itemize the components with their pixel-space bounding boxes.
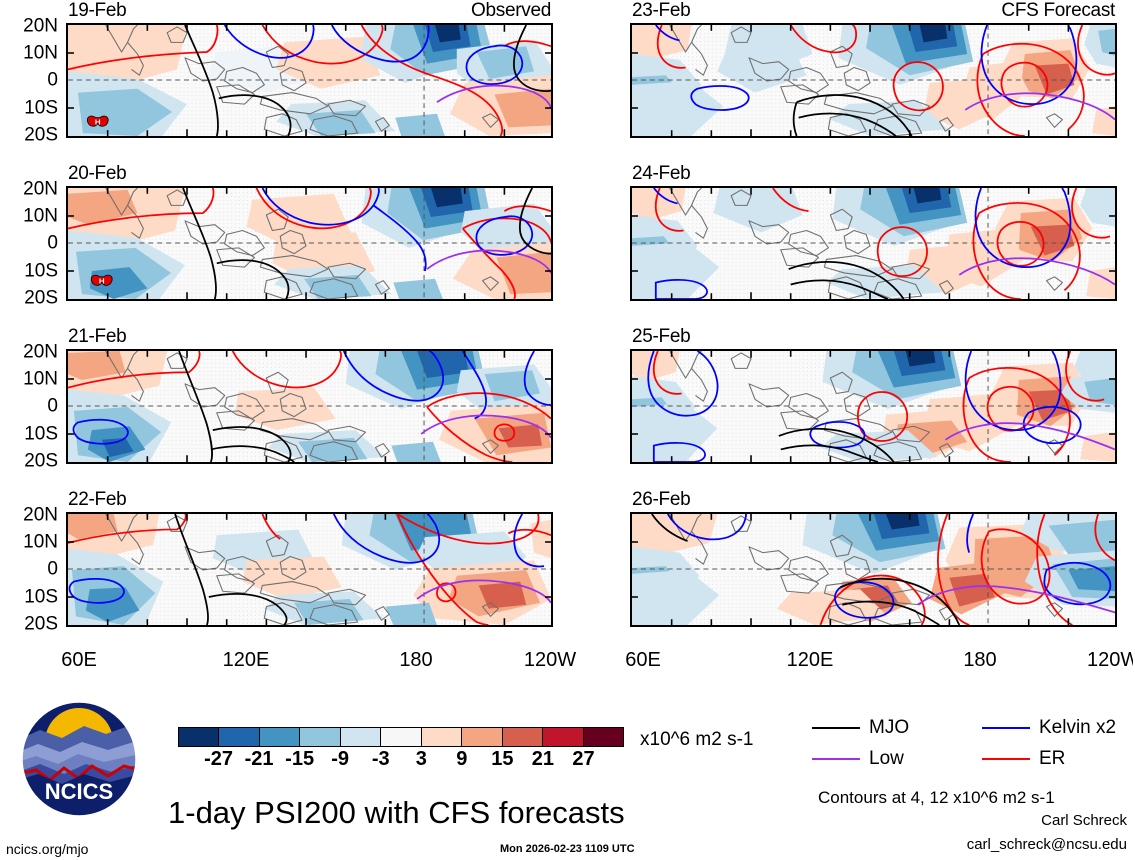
contour-interval-note: Contours at 4, 12 x10^6 m2 s-1	[818, 788, 1055, 808]
panel-forecast-25-feb[interactable]: 25-Feb	[630, 349, 1117, 464]
svg-text:H: H	[99, 277, 105, 286]
y-tick-10S: 10S	[24, 99, 58, 118]
map-canvas	[630, 186, 1117, 301]
y-tick-20S: 20S	[24, 452, 58, 471]
legend-label-mjo: MJO	[869, 718, 909, 737]
author-name: Carl Schreck	[1041, 812, 1127, 829]
y-tick-20S: 20S	[24, 289, 58, 308]
y-tick-10S: 10S	[24, 262, 58, 281]
y-axis-labels-row-3: 20N 10N 0 10S 20S	[0, 509, 62, 623]
panel-observed-21-feb[interactable]: 21-Feb	[66, 349, 553, 464]
colorbar-tick-9: 9	[456, 749, 467, 769]
logo-text: NCICS	[45, 779, 113, 804]
colorbar-segment-10	[584, 728, 623, 746]
author-email[interactable]: carl_schreck@ncsu.edu	[967, 836, 1127, 853]
colorbar: -27-21-15-9-339152127 x10^6 m2 s-1	[178, 727, 624, 747]
panel-date-label: 22-Feb	[68, 489, 126, 511]
colorbar-segment-8	[503, 728, 543, 746]
x-tick-180: 180	[399, 650, 432, 670]
legend-item-mjo[interactable]: MJO	[812, 718, 909, 737]
panel-date-label: 24-Feb	[632, 163, 690, 185]
y-tick-20N: 20N	[23, 17, 58, 36]
colorbar-tick-27: 27	[572, 749, 594, 769]
colorbar-segment-7	[462, 728, 502, 746]
panel-date-label: 21-Feb	[68, 326, 126, 348]
y-axis-labels-row-1: 20N 10N 0 10S 20S	[0, 183, 62, 297]
colorbar-segment-6	[422, 728, 462, 746]
y-tick-0: 0	[47, 397, 58, 416]
colorbar-segment-1	[219, 728, 259, 746]
colorbar-tick--15: -15	[285, 749, 314, 769]
panel-date-label: 25-Feb	[632, 326, 690, 348]
legend-label-low: Low	[869, 749, 904, 768]
map-canvas	[66, 512, 553, 627]
map-canvas: H	[66, 23, 553, 138]
x-tick-60E: 60E	[625, 650, 661, 670]
colorbar-tick-15: 15	[491, 749, 513, 769]
x-tick-180: 180	[963, 650, 996, 670]
mjo-line-swatch	[812, 727, 860, 729]
y-tick-10N: 10N	[23, 533, 58, 552]
y-tick-0: 0	[47, 560, 58, 579]
generation-timestamp: Mon 2026-02-23 1109 UTC	[500, 843, 635, 855]
legend-item-er[interactable]: ER	[982, 749, 1065, 768]
panel-date-label: 19-Feb	[68, 0, 126, 22]
x-axis-labels-right: 60E 120E 180 120W	[630, 650, 1117, 676]
x-tick-120E: 120E	[223, 650, 270, 670]
map-canvas	[66, 349, 553, 464]
panel-date-label: 26-Feb	[632, 489, 690, 511]
colorbar-tick-21: 21	[532, 749, 554, 769]
y-axis-labels-row-0: 20N 10N 0 10S 20S	[0, 20, 62, 134]
map-canvas	[630, 349, 1117, 464]
x-tick-120E: 120E	[787, 650, 834, 670]
panel-observed-20-feb[interactable]: 20-Feb	[66, 186, 553, 301]
panel-date-label: 20-Feb	[68, 163, 126, 185]
y-tick-10N: 10N	[23, 44, 58, 63]
y-tick-0: 0	[47, 71, 58, 90]
map-canvas	[630, 23, 1117, 138]
colorbar-tick--9: -9	[331, 749, 349, 769]
colorbar-segment-4	[341, 728, 381, 746]
contour-legend: MJO Kelvin x2 Low ER	[812, 718, 1132, 774]
y-tick-20S: 20S	[24, 126, 58, 145]
map-canvas	[630, 512, 1117, 627]
page-title: 1-day PSI200 with CFS forecasts	[168, 795, 625, 831]
y-axis-labels-row-2: 20N 10N 0 10S 20S	[0, 346, 62, 460]
colorbar-segment-2	[260, 728, 300, 746]
column-header-observed: Observed	[471, 0, 551, 22]
legend-item-low[interactable]: Low	[812, 749, 904, 768]
y-tick-10N: 10N	[23, 370, 58, 389]
panel-observed-22-feb[interactable]: 22-Feb	[66, 512, 553, 627]
colorbar-segment-3	[300, 728, 340, 746]
legend-label-kelvin: Kelvin x2	[1039, 718, 1116, 737]
legend-item-kelvin[interactable]: Kelvin x2	[982, 718, 1116, 737]
colorbar-tick--21: -21	[245, 749, 274, 769]
colorbar-tick--27: -27	[204, 749, 233, 769]
y-tick-20N: 20N	[23, 506, 58, 525]
kelvin-line-swatch	[982, 727, 1030, 729]
colorbar-segment-0	[179, 728, 219, 746]
panel-forecast-23-feb[interactable]: 23-Feb CFS Forecast	[630, 23, 1117, 138]
y-tick-20N: 20N	[23, 180, 58, 199]
svg-text:H: H	[95, 118, 101, 127]
y-tick-20N: 20N	[23, 343, 58, 362]
site-url[interactable]: ncics.org/mjo	[6, 841, 88, 857]
panel-grid: 20N 10N 0 10S 20S 20N 10N 0 10S 20S 20N …	[0, 0, 1135, 690]
er-line-swatch	[982, 758, 1030, 760]
legend-label-er: ER	[1039, 749, 1065, 768]
y-tick-0: 0	[47, 234, 58, 253]
colorbar-units-label: x10^6 m2 s-1	[640, 729, 753, 751]
panel-date-label: 23-Feb	[632, 0, 690, 22]
x-tick-60E: 60E	[61, 650, 97, 670]
low-line-swatch	[812, 758, 860, 760]
colorbar-tick-3: 3	[416, 749, 427, 769]
colorbar-segment-9	[543, 728, 583, 746]
column-header-cfs-forecast: CFS Forecast	[1001, 0, 1115, 22]
map-canvas: H	[66, 186, 553, 301]
x-tick-120W: 120W	[524, 650, 576, 670]
y-tick-10N: 10N	[23, 207, 58, 226]
x-tick-120W: 120W	[1087, 650, 1133, 670]
panel-observed-19-feb[interactable]: 19-Feb Observed	[66, 23, 553, 138]
colorbar-segment-5	[381, 728, 421, 746]
ncics-logo: NCICS	[20, 700, 138, 818]
colorbar-tick--3: -3	[372, 749, 390, 769]
colorbar-segments	[178, 727, 624, 747]
panel-forecast-26-feb[interactable]: 26-Feb	[630, 512, 1117, 627]
panel-forecast-24-feb[interactable]: 24-Feb	[630, 186, 1117, 301]
y-tick-20S: 20S	[24, 615, 58, 634]
y-tick-10S: 10S	[24, 588, 58, 607]
y-tick-10S: 10S	[24, 425, 58, 444]
x-axis-labels-left: 60E 120E 180 120W	[66, 650, 553, 676]
colorbar-tick-labels: -27-21-15-9-339152127	[178, 749, 624, 775]
